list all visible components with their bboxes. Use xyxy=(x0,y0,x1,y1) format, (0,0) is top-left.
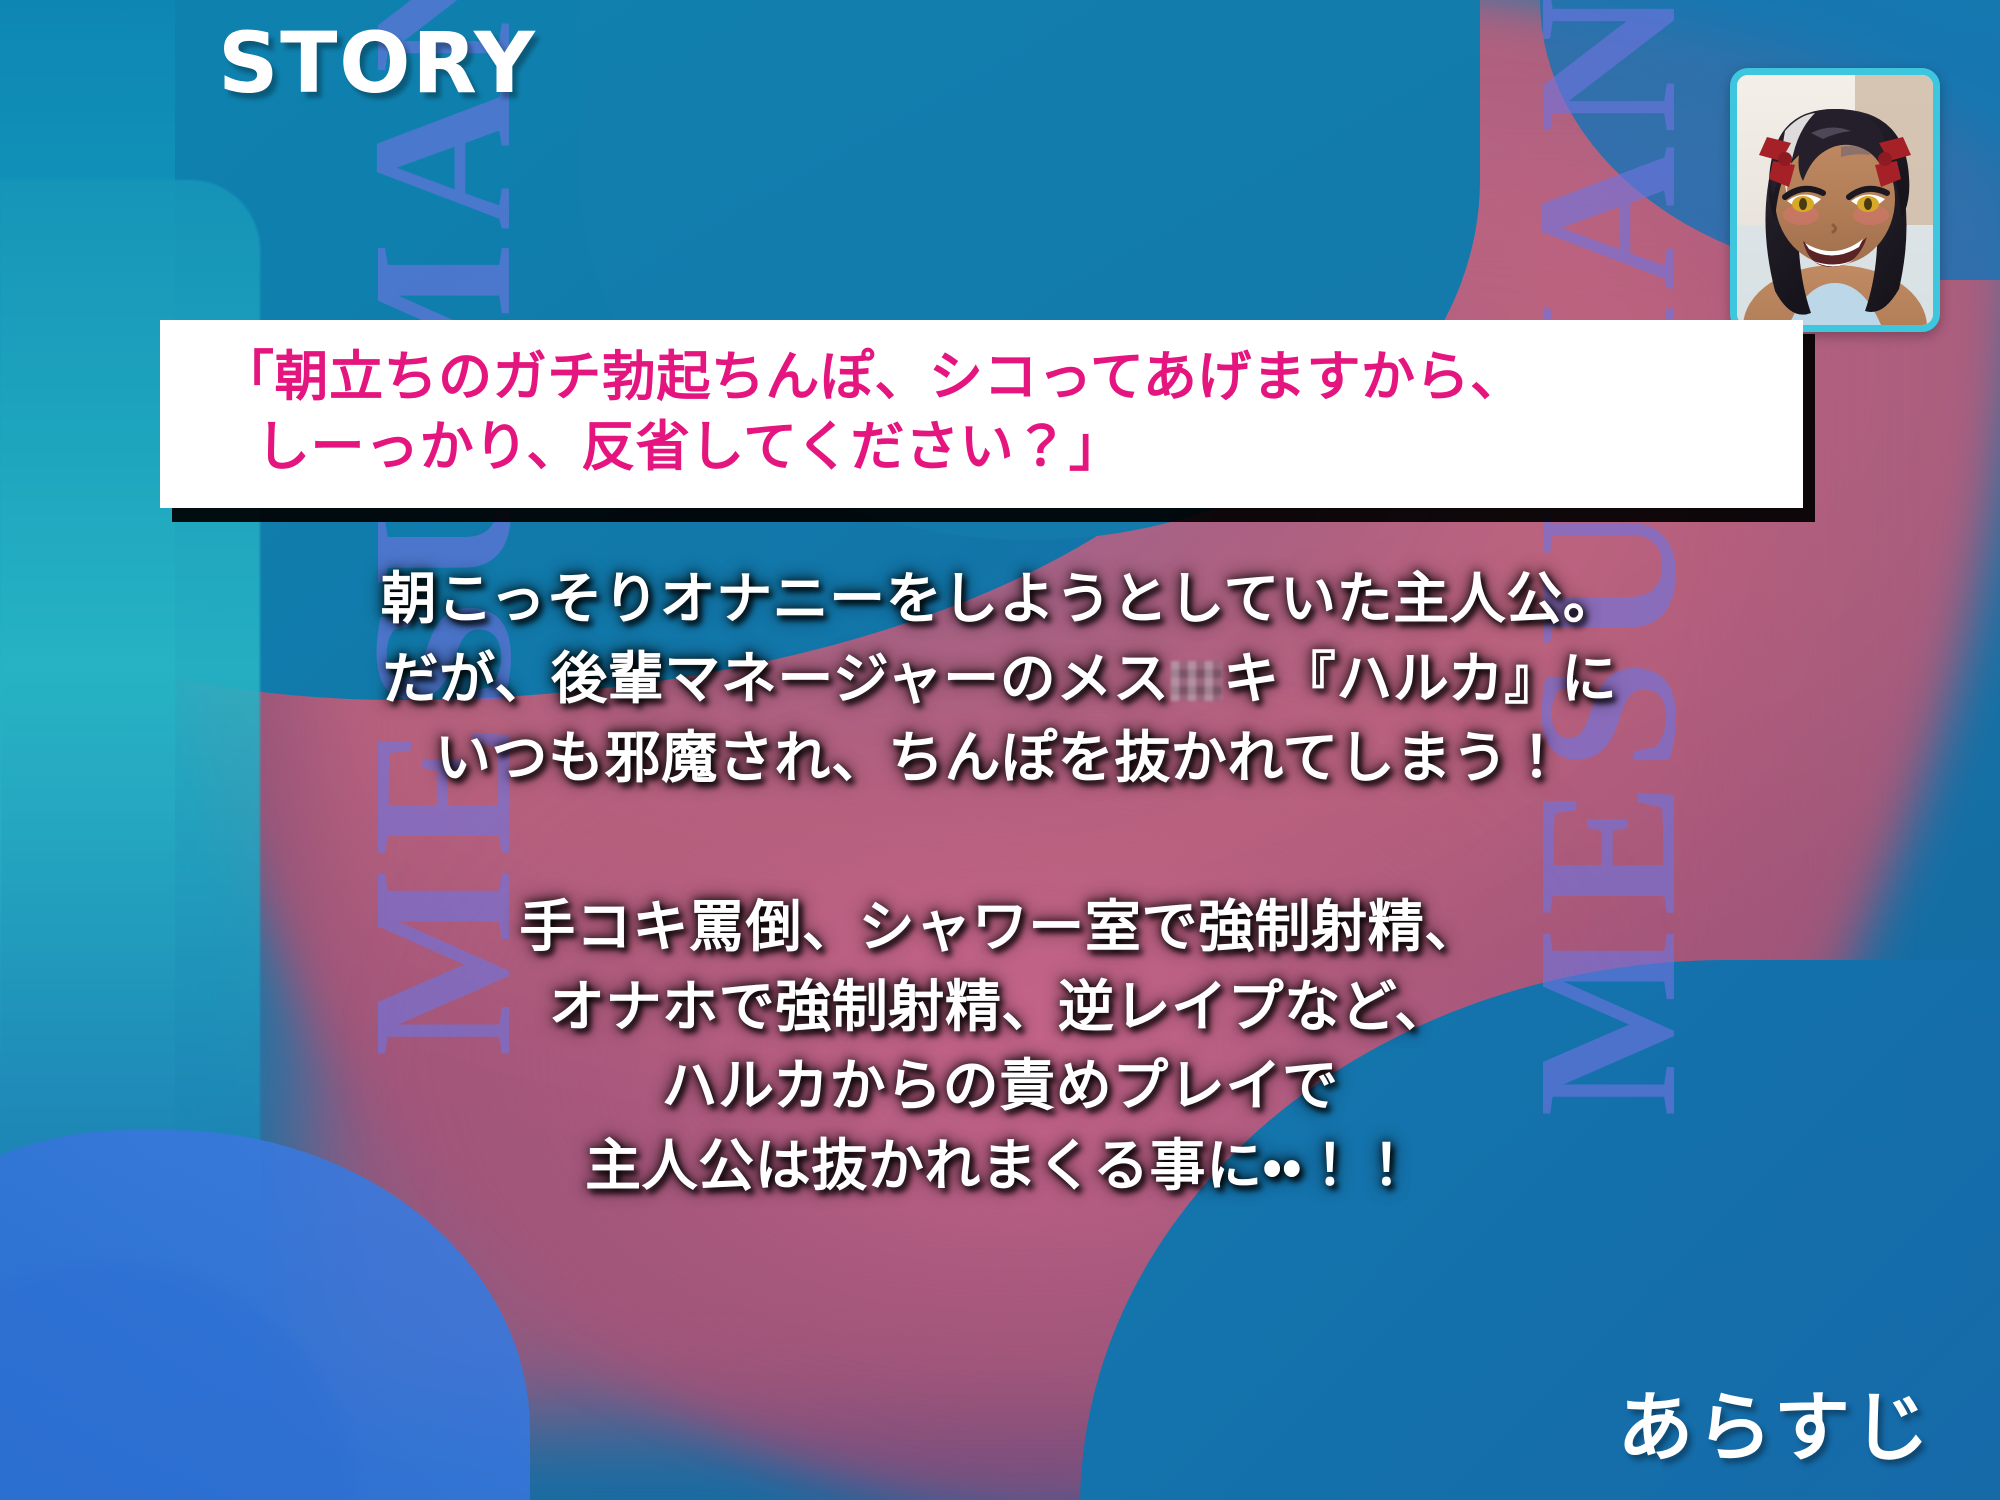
story-line-3: いつも邪魔され、ちんぽを抜かれてしまう！ xyxy=(0,719,2000,799)
quote-line-1: 「朝立ちのガチ勃起ちんぽ、シコってあげますから、 xyxy=(160,342,1803,412)
story-paragraph-1: 朝こっそりオナニーをしようとしていた主人公。 だが、後輩マネージャーのメスキ『ハ… xyxy=(0,560,2000,799)
quote-line-2: しーっかり、反省してください？」 xyxy=(160,412,1803,482)
story-line-7: 主人公は抜かれまくる事に・・！！ xyxy=(0,1127,2000,1207)
story-line-2-after: キ『ハルカ』に xyxy=(1223,647,1617,712)
quote-box: 「朝立ちのガチ勃起ちんぽ、シコってあげますから、 しーっかり、反省してください？… xyxy=(160,320,1803,508)
story-slide: MESUMANE MESUMANE STORY xyxy=(0,0,2000,1500)
story-line-5: オナホで強制射精、逆レイプなど、 xyxy=(0,968,2000,1048)
story-paragraph-2: 手コキ罵倒、シャワー室で強制射精、 オナホで強制射精、逆レイプなど、 ハルカから… xyxy=(0,888,2000,1206)
character-portrait-haruka xyxy=(1730,68,1940,332)
section-label-arasuji: あらすじ xyxy=(1617,1366,1932,1476)
censor-block-icon xyxy=(1171,661,1223,701)
story-line-6: ハルカからの責めプレイで xyxy=(0,1047,2000,1127)
story-body: 朝こっそりオナニーをしようとしていた主人公。 だが、後輩マネージャーのメスキ『ハ… xyxy=(0,560,2000,1206)
story-line-2-before: だが、後輩マネージャーのメス xyxy=(383,647,1170,712)
page-title: STORY xyxy=(218,14,537,112)
story-line-4: 手コキ罵倒、シャワー室で強制射精、 xyxy=(0,888,2000,968)
story-line-2: だが、後輩マネージャーのメスキ『ハルカ』に xyxy=(0,640,2000,720)
story-line-1: 朝こっそりオナニーをしようとしていた主人公。 xyxy=(0,560,2000,640)
